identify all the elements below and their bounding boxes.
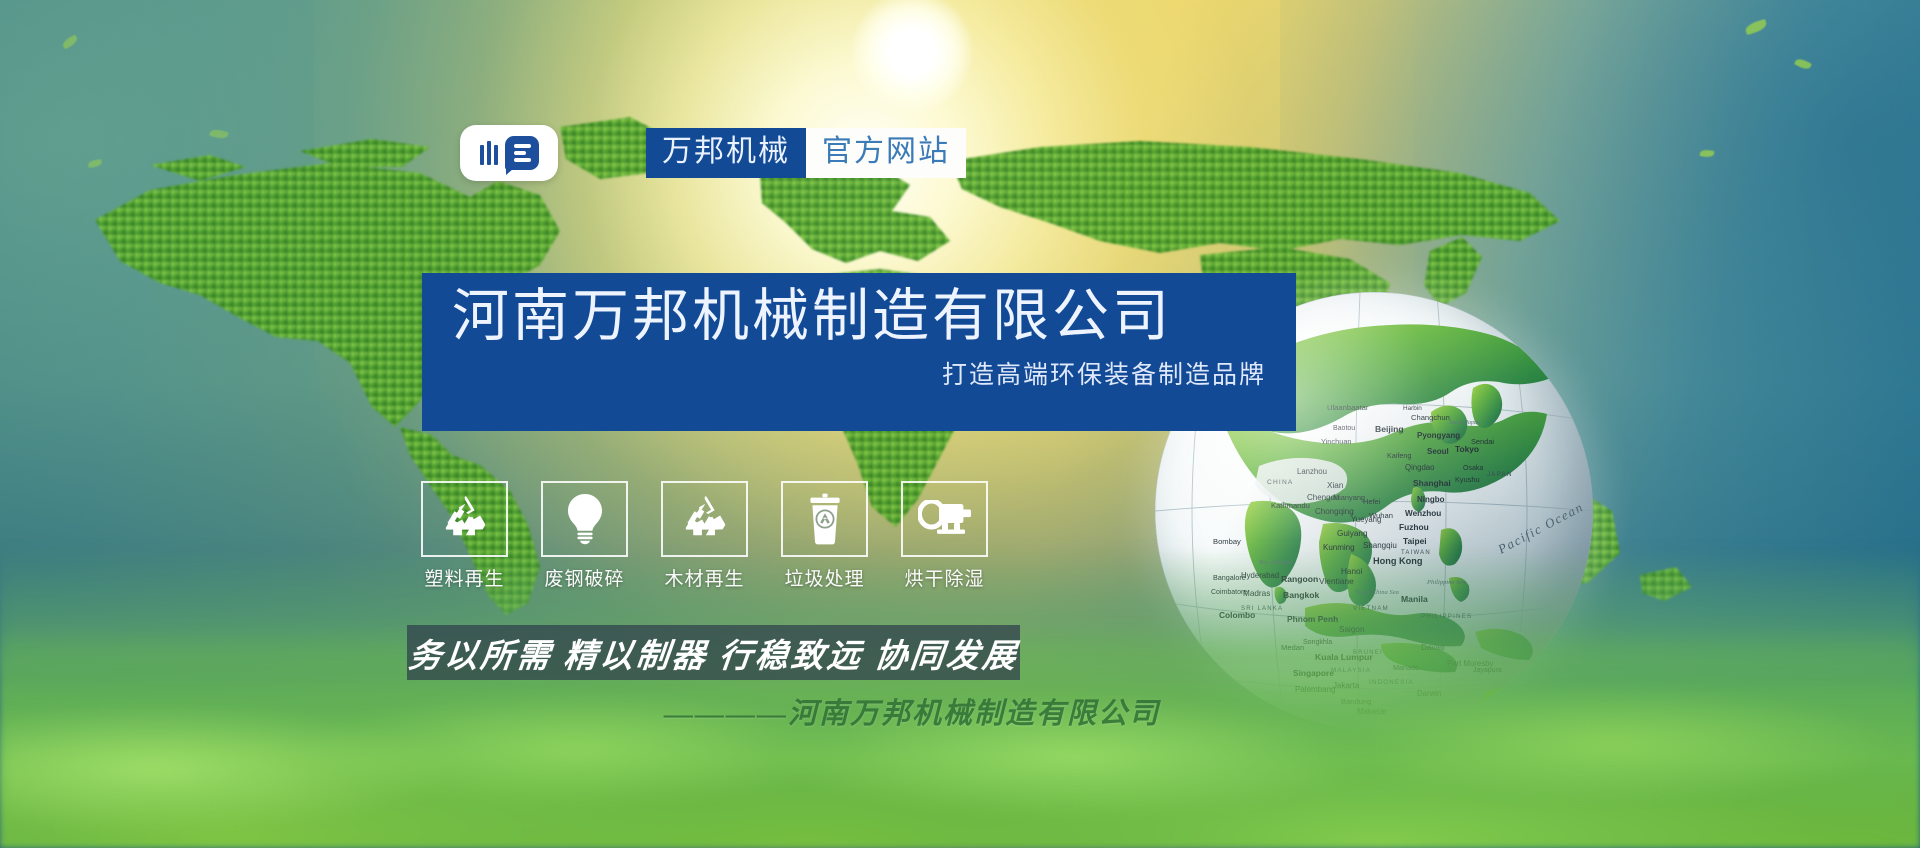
- trash-bin-icon: [781, 481, 868, 557]
- wanbang-logo-icon[interactable]: [460, 125, 558, 181]
- logo-bubble-mark: [505, 136, 539, 170]
- logo-w-mark: [480, 141, 498, 165]
- badge-company-name[interactable]: 万邦机械: [646, 128, 806, 178]
- lightbulb-icon: [541, 481, 628, 557]
- service-label: 废钢破碎: [544, 564, 624, 591]
- service-item-steel-shredding[interactable]: 废钢破碎: [541, 481, 628, 591]
- badge-official-site[interactable]: 官方网站: [806, 128, 966, 178]
- service-label: 垃圾处理: [784, 564, 864, 591]
- service-label: 塑料再生: [424, 564, 504, 591]
- service-item-drying-dehumidifying[interactable]: 烘干除湿: [901, 481, 988, 591]
- service-label: 木材再生: [664, 564, 744, 591]
- service-item-waste-treatment[interactable]: 垃圾处理: [781, 481, 868, 591]
- slogan-text: 务以所需 精以制器 行稳致远 协同发展: [406, 629, 1021, 677]
- slogan-attribution: ————河南万邦机械制造有限公司: [664, 690, 1224, 732]
- recycle-icon: [661, 481, 748, 557]
- page-subtitle: 打造高端环保装备制造品牌: [452, 355, 1266, 391]
- service-label: 烘干除湿: [904, 564, 984, 591]
- service-icon-strip: 塑料再生 废钢破碎: [421, 481, 988, 591]
- hero-panel: 河南万邦机械制造有限公司 打造高端环保装备制造品牌: [422, 273, 1296, 431]
- blower-icon: [901, 481, 988, 557]
- brand-header: 万邦机械 官方网站: [460, 125, 966, 181]
- service-item-plastic-recycling[interactable]: 塑料再生: [421, 481, 508, 591]
- page-title: 河南万邦机械制造有限公司: [452, 285, 1266, 349]
- hero-banner: Ulaanbaatar Beijing Baotou Yinchuan Chan…: [0, 0, 1920, 848]
- grass-highlights: [0, 658, 1920, 848]
- recycle-icon: [421, 481, 508, 557]
- service-item-wood-recycling[interactable]: 木材再生: [661, 481, 748, 591]
- slogan-bar: 务以所需 精以制器 行稳致远 协同发展: [407, 625, 1020, 680]
